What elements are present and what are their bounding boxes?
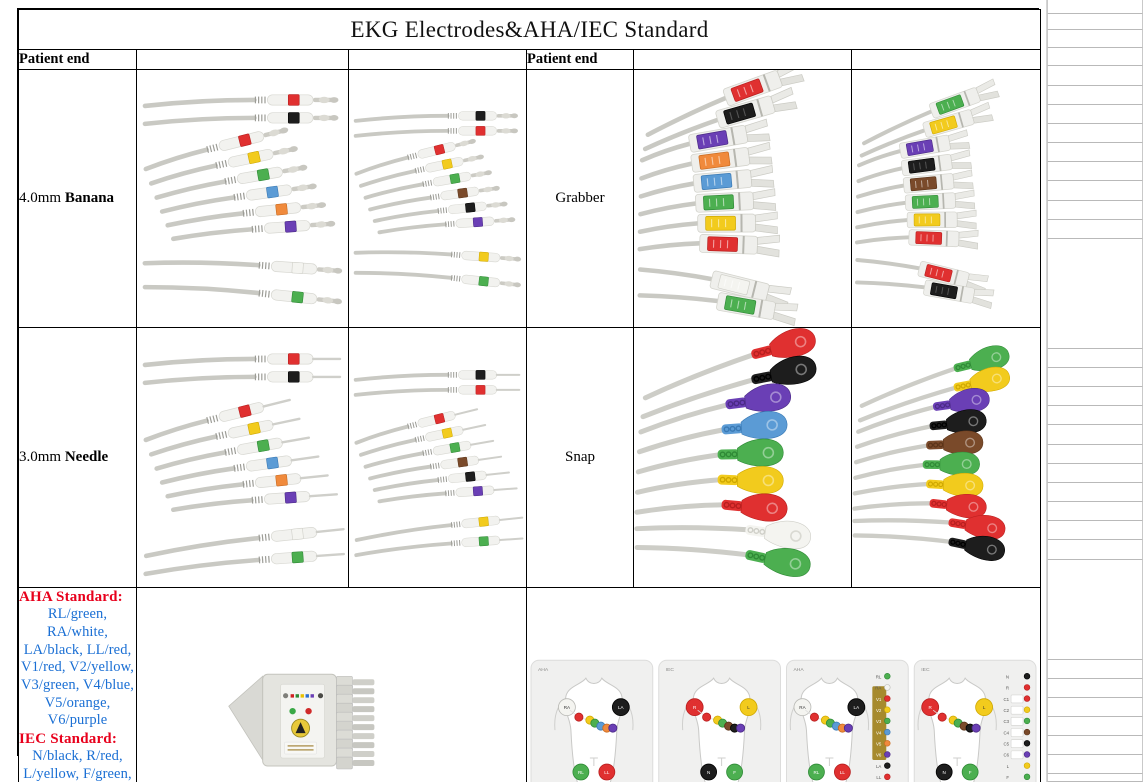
svg-text:C5: C5 [1003, 741, 1009, 746]
svg-text:V4: V4 [876, 730, 882, 735]
svg-text:N: N [943, 770, 946, 775]
photo-needle-iec [349, 328, 527, 588]
placement-diagrams-cell: AHARALARLLLIECRLNFAHARALARLLLRLRAV1V2V3V… [527, 588, 1041, 782]
legend-aha-line-0: RL/green, RA/white, LA/black, LL/red, [19, 606, 136, 659]
sheet-cell[interactable] [1047, 66, 1143, 86]
svg-text:LL: LL [840, 770, 846, 775]
svg-text:C6: C6 [1003, 753, 1009, 758]
svg-text:RL: RL [578, 770, 584, 775]
svg-text:V3: V3 [876, 719, 882, 724]
sheet-cell[interactable] [1047, 736, 1143, 755]
svg-text:C4: C4 [1003, 730, 1009, 735]
photo-grabber-aha [634, 70, 852, 328]
sheet-cell[interactable] [1047, 30, 1143, 48]
legend-aha-line-2: V5/orange, V6/purple [19, 695, 136, 730]
sheet-cell[interactable] [1047, 717, 1143, 736]
legend-aha-heading: AHA Standard: [19, 588, 136, 606]
sheet-cell[interactable] [1047, 220, 1143, 239]
empty-sheet-grid[interactable] [1047, 0, 1143, 782]
row-label-banana: 4.0mm Banana [19, 70, 137, 328]
sheet-cell[interactable] [1047, 406, 1143, 425]
page-title: EKG Electrodes&AHA/IEC Standard [19, 10, 1041, 50]
header-aha-1: AHA Standard [137, 50, 349, 70]
svg-text:C3: C3 [1003, 719, 1009, 724]
sheet-cell[interactable] [1047, 698, 1143, 717]
legend-aha-line-1: V1/red, V2/yellow, V3/green, V4/blue, [19, 659, 136, 694]
sheet-cell[interactable] [1047, 86, 1143, 105]
svg-text:F: F [1006, 775, 1009, 780]
sheet-cell[interactable] [1047, 560, 1143, 660]
svg-text:N: N [707, 770, 710, 775]
row-label-banana-size: 4.0mm [19, 190, 65, 206]
svg-text:F: F [733, 770, 736, 775]
header-iec-1: IEC Standard [349, 50, 527, 70]
row-label-grabber: Grabber [527, 70, 634, 328]
sheet-cell[interactable] [1047, 143, 1143, 162]
legend-iec-line-0: N/black, R/red, L/yellow, F/green, [19, 748, 136, 782]
svg-text:IEC: IEC [666, 667, 675, 673]
legend-iec-heading: IEC Standard: [19, 730, 136, 748]
svg-text:RL: RL [814, 770, 820, 775]
svg-text:RA: RA [875, 686, 881, 691]
yoke-cell: 10 lead YOKE [137, 588, 527, 782]
photo-snap-iec [852, 328, 1041, 588]
sheet-cell[interactable] [1047, 445, 1143, 464]
svg-text:V1: V1 [876, 697, 882, 702]
photo-grabber-iec [852, 70, 1041, 328]
svg-text:L: L [747, 705, 750, 710]
header-iec-2: IEC Standard [852, 50, 1041, 70]
svg-text:R: R [1006, 686, 1009, 691]
header-patient-end-2: Patient end [527, 50, 634, 70]
sheet-cell[interactable] [1047, 521, 1143, 540]
sheet-cell[interactable] [1047, 755, 1143, 774]
sheet-cell[interactable] [1047, 201, 1143, 220]
svg-text:V6: V6 [876, 753, 882, 758]
row-label-snap: Snap [527, 328, 634, 588]
svg-text:LA: LA [854, 705, 861, 710]
sheet-cell[interactable] [1047, 660, 1143, 679]
sheet-cell[interactable] [1047, 124, 1143, 143]
sheet-cell[interactable] [1047, 464, 1143, 483]
svg-text:RA: RA [564, 705, 571, 710]
standards-legend: AHA Standard: RL/green, RA/white, LA/bla… [19, 588, 137, 782]
header-aha-2: AHA Standard [634, 50, 852, 70]
row-label-needle-size: 3.0mm [19, 449, 65, 465]
svg-text:N: N [1006, 674, 1009, 679]
svg-text:LA: LA [618, 705, 625, 710]
header-patient-end-1: Patient end [19, 50, 137, 70]
sheet-cell[interactable] [1047, 162, 1143, 181]
sheet-cell[interactable] [1047, 679, 1143, 698]
sheet-cell[interactable] [1047, 14, 1143, 30]
svg-text:IEC: IEC [921, 667, 930, 673]
sheet-cell[interactable] [1047, 239, 1143, 349]
svg-text:LA: LA [876, 764, 881, 769]
row-label-needle-type: Needle [65, 449, 108, 465]
photo-needle-aha [137, 328, 349, 588]
sheet-cell[interactable] [1047, 502, 1143, 521]
svg-text:V2: V2 [876, 708, 882, 713]
svg-text:LL: LL [876, 775, 881, 780]
svg-text:L: L [983, 705, 986, 710]
svg-text:V5: V5 [876, 741, 882, 746]
svg-text:F: F [969, 770, 972, 775]
row-label-needle: 3.0mm Needle [19, 328, 137, 588]
main-table: EKG Electrodes&AHA/IEC Standard Patient … [17, 8, 1039, 756]
svg-text:AHA: AHA [538, 667, 549, 673]
svg-text:C2: C2 [1003, 708, 1009, 713]
sheet-cell[interactable] [1047, 48, 1143, 66]
svg-text:C1: C1 [1003, 697, 1009, 702]
photo-banana-iec [349, 70, 527, 328]
sheet-cell[interactable] [1047, 181, 1143, 201]
photo-banana-aha [137, 70, 349, 328]
svg-text:RA: RA [799, 705, 806, 710]
sheet-cell[interactable] [1047, 483, 1143, 502]
svg-text:AHA: AHA [793, 667, 804, 673]
sheet-cell[interactable] [1047, 774, 1143, 782]
row-label-banana-type: Banana [65, 190, 114, 206]
sheet-cell[interactable] [1047, 368, 1143, 387]
sheet-cell[interactable] [1047, 105, 1143, 124]
sheet-cell[interactable] [1047, 387, 1143, 406]
sheet-cell[interactable] [1047, 0, 1143, 14]
svg-text:RL: RL [876, 674, 882, 679]
photo-snap-aha [634, 328, 852, 588]
spreadsheet-page: EKG Electrodes&AHA/IEC Standard Patient … [0, 0, 1143, 782]
sheet-cell[interactable] [1047, 425, 1143, 445]
sheet-cell[interactable] [1047, 349, 1143, 368]
sheet-cell[interactable] [1047, 540, 1143, 560]
svg-text:LL: LL [604, 770, 610, 775]
